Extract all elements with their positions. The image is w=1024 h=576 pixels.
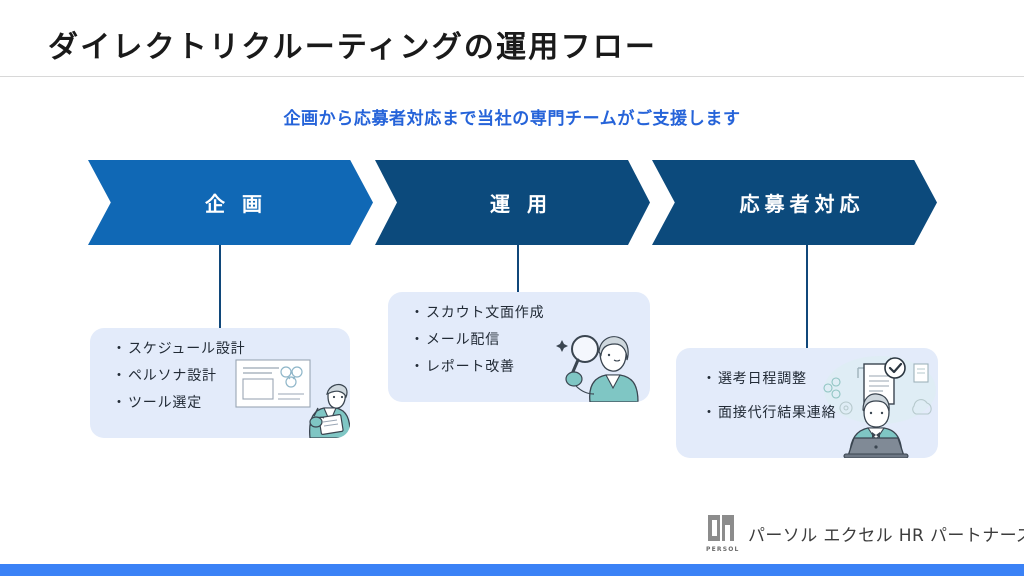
list-item: ・ ペルソナ設計 xyxy=(112,369,350,383)
list-item-label: メール配信 xyxy=(426,333,500,347)
list-item-label: ツール選定 xyxy=(128,396,202,410)
list-item: ・ スカウト文面作成 xyxy=(410,306,650,320)
header-divider xyxy=(0,76,1024,77)
list-item-label: 面接代行結果連絡 xyxy=(718,406,836,420)
list-item: ・ 選考日程調整 xyxy=(702,372,938,386)
bullet-icon: ・ xyxy=(702,372,718,386)
list-item: ・ レポート改善 xyxy=(410,360,650,374)
connector-line-planning xyxy=(219,245,221,328)
slide-subtitle: 企画から応募者対応まで当社の専門チームがご支援します xyxy=(0,104,1024,129)
phase-card-applicant-response-list: ・ 選考日程調整 ・ 面接代行結果連絡 xyxy=(676,348,938,420)
phase-card-operation[interactable]: ・ スカウト文面作成 ・ メール配信 ・ レポート改善 xyxy=(388,292,650,402)
phase-card-planning[interactable]: ・ スケジュール設計 ・ ペルソナ設計 ・ ツール選定 xyxy=(90,328,350,438)
list-item: ・ 面接代行結果連絡 xyxy=(702,406,938,420)
page-title: ダイレクトリクルーティングの運用フロー xyxy=(48,22,657,66)
list-item: ・ ツール選定 xyxy=(112,396,350,410)
bullet-icon: ・ xyxy=(410,333,426,347)
bullet-icon: ・ xyxy=(112,396,128,410)
connector-line-applicant-response xyxy=(806,245,808,348)
phase-card-planning-list: ・ スケジュール設計 ・ ペルソナ設計 ・ ツール選定 xyxy=(90,328,350,410)
phase-card-applicant-response[interactable]: ・ 選考日程調整 ・ 面接代行結果連絡 xyxy=(676,348,938,458)
list-item-label: スカウト文面作成 xyxy=(426,306,544,320)
list-item-label: 選考日程調整 xyxy=(718,372,807,386)
phase-chevron-applicant-response[interactable]: 応募者対応 xyxy=(652,160,937,245)
list-item: ・ メール配信 xyxy=(410,333,650,347)
list-item-label: ペルソナ設計 xyxy=(128,369,217,383)
phase-chevron-planning-label: 企 画 xyxy=(200,188,267,217)
phase-chevron-operation[interactable]: 運 用 xyxy=(375,160,650,245)
bullet-icon: ・ xyxy=(410,360,426,374)
bullet-icon: ・ xyxy=(702,406,718,420)
bullet-icon: ・ xyxy=(112,369,128,383)
list-item: ・ スケジュール設計 xyxy=(112,342,350,356)
footer-logo: PERSOL パーソル エクセル HR パートナーズ xyxy=(706,512,1016,554)
connector-line-operation xyxy=(517,245,519,292)
phase-chevron-row: 企 画 運 用 応募者対応 xyxy=(0,160,1024,245)
phase-card-operation-list: ・ スカウト文面作成 ・ メール配信 ・ レポート改善 xyxy=(388,292,650,374)
phase-chevron-applicant-response-label: 応募者対応 xyxy=(735,188,865,217)
persol-wordmark: PERSOL xyxy=(706,546,740,553)
phase-chevron-operation-label: 運 用 xyxy=(485,188,552,217)
slide-header: ダイレクトリクルーティングの運用フロー xyxy=(0,0,1024,77)
list-item-label: スケジュール設計 xyxy=(128,342,245,356)
bullet-icon: ・ xyxy=(112,342,128,356)
company-name: パーソル エクセル HR パートナーズ xyxy=(748,521,1024,546)
persol-logo-icon: PERSOL xyxy=(706,513,740,553)
phase-chevron-planning[interactable]: 企 画 xyxy=(88,160,373,245)
bottom-accent-bar xyxy=(0,564,1024,576)
bullet-icon: ・ xyxy=(410,306,426,320)
list-item-label: レポート改善 xyxy=(426,360,515,374)
